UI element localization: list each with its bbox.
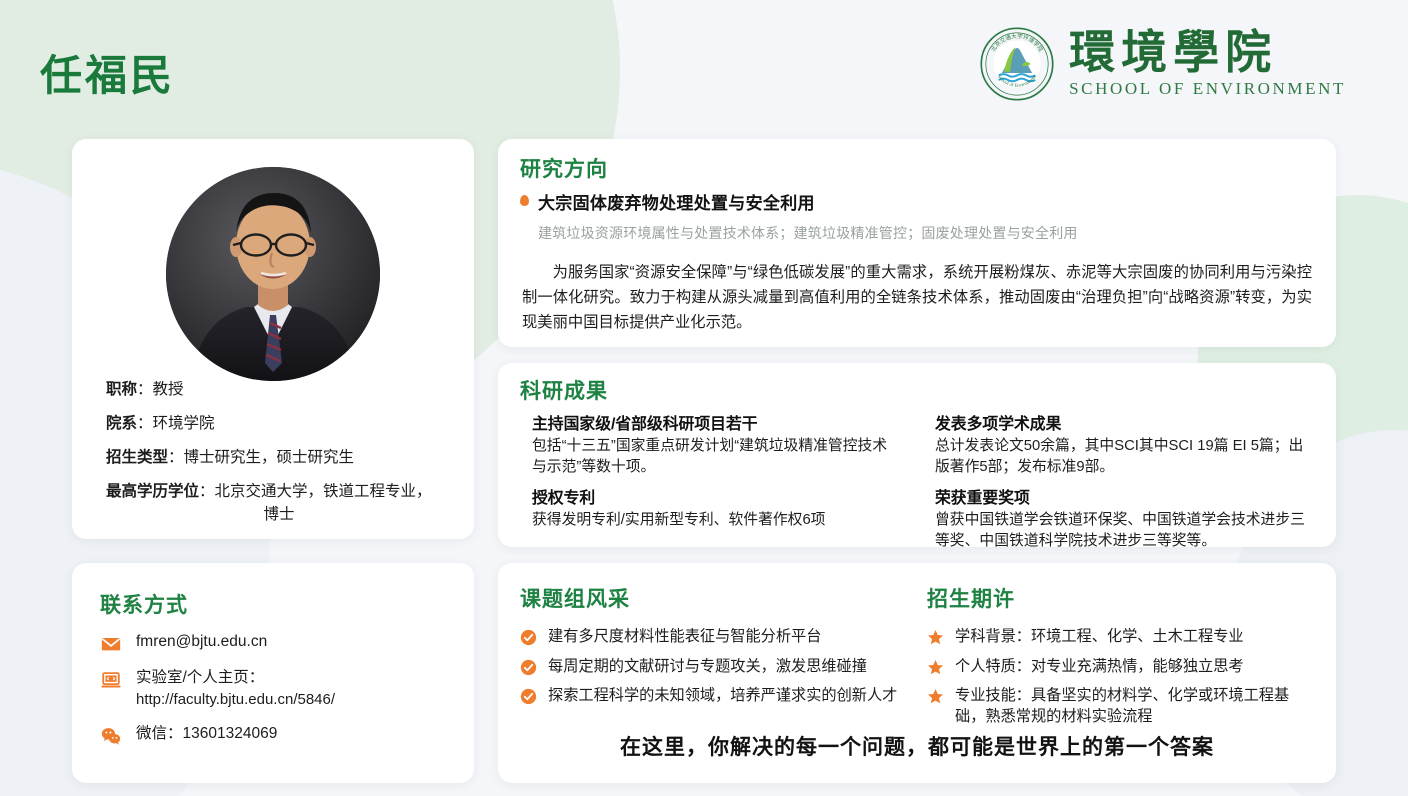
team-item-text: 每周定期的文献研讨与专题攻关，激发思维碰撞 bbox=[548, 657, 867, 678]
contact-item-email[interactable]: fmren@bjtu.edu.cn bbox=[100, 631, 454, 655]
orange-dot-icon bbox=[520, 195, 529, 206]
achievement-body-patents: 获得发明专利/实用新型专利、软件著作权6项 bbox=[532, 510, 901, 531]
profile-field-degree-value: 北京交通大学，铁道工程专业， bbox=[215, 483, 432, 500]
profile-field-title-sep: ： bbox=[137, 381, 153, 398]
research-section-title: 研究方向 bbox=[520, 153, 608, 183]
page-title: 任福民 bbox=[40, 42, 175, 103]
achievements-section-title: 科研成果 bbox=[520, 375, 608, 405]
achievement-body-publications: 总计发表论文50余篇，其中SCI其中SCI 19篇 EI 5篇；出版著作5部；发… bbox=[935, 436, 1314, 478]
achievement-heading-patents: 授权专利 bbox=[532, 485, 901, 508]
slogan-text: 在这里，你解决的每一个问题，都可能是世界上的第一个答案 bbox=[498, 731, 1336, 761]
school-seal-icon: 北京交通大学环境学院 School of Environment bbox=[979, 26, 1055, 102]
achievements-columns: 主持国家级/省部级科研项目若干 包括“十三五”国家重点研发计划“建筑垃圾精准管控… bbox=[520, 411, 1314, 559]
contact-section-title: 联系方式 bbox=[100, 589, 188, 619]
contact-homepage-url[interactable]: http://faculty.bjtu.edu.cn/5846/ bbox=[136, 689, 335, 711]
check-circle-icon bbox=[520, 659, 537, 676]
contact-email-text: fmren@bjtu.edu.cn bbox=[136, 631, 267, 653]
contact-homepage-block: 实验室/个人主页： http://faculty.bjtu.edu.cn/584… bbox=[136, 667, 335, 711]
research-main-topic: 大宗固体废弃物处理处置与安全利用 bbox=[538, 189, 815, 214]
portrait-photo-icon bbox=[166, 167, 380, 381]
profile-field-admission-type: 招生类型：博士研究生，硕士研究生 bbox=[94, 447, 452, 470]
team-item: 探索工程科学的未知领域，培养严谨求实的创新人才 bbox=[520, 686, 907, 707]
profile-info-list: 职称：教授 院系：环境学院 招生类型：博士研究生，硕士研究生 最高学历学位：北京… bbox=[94, 379, 452, 538]
contact-item-wechat[interactable]: 微信：13601324069 bbox=[100, 723, 454, 747]
star-icon bbox=[927, 688, 944, 705]
avatar bbox=[166, 167, 380, 381]
admission-item: 专业技能：具备坚实的材料学、化学或环境工程基础，熟悉常规的材料实验流程 bbox=[927, 686, 1304, 727]
admission-item: 学科背景：环境工程、化学、土木工程专业 bbox=[927, 627, 1304, 648]
bottom-columns: 课题组风采 建有多尺度材料性能表征与智能分析平台 每周定期的文献研讨与专题攻关，… bbox=[520, 583, 1314, 737]
team-item-text: 探索工程科学的未知领域，培养严谨求实的创新人才 bbox=[548, 686, 897, 707]
wechat-icon bbox=[100, 725, 122, 747]
contact-list: fmren@bjtu.edu.cn 实验室/个人主页： http://facul… bbox=[100, 631, 454, 759]
achievements-card: 科研成果 主持国家级/省部级科研项目若干 包括“十三五”国家重点研发计划“建筑垃… bbox=[498, 363, 1336, 547]
star-icon bbox=[927, 629, 944, 646]
admission-section-title: 招生期许 bbox=[927, 583, 1304, 613]
profile-field-department-sep: ： bbox=[137, 415, 153, 432]
logo-english-name: SCHOOL OF ENVIRONMENT bbox=[1069, 79, 1346, 99]
contact-wechat-text: 微信：13601324069 bbox=[136, 723, 277, 745]
team-section-title: 课题组风采 bbox=[520, 583, 907, 613]
research-description: 为服务国家“资源安全保障”与“绿色低碳发展”的重大需求，系统开展粉煤灰、赤泥等大… bbox=[522, 261, 1312, 335]
admission-item: 个人特质：对专业充满热情，能够独立思考 bbox=[927, 657, 1304, 678]
team-and-admission-card: 课题组风采 建有多尺度材料性能表征与智能分析平台 每周定期的文献研讨与专题攻关，… bbox=[498, 563, 1336, 783]
team-item: 每周定期的文献研讨与专题攻关，激发思维碰撞 bbox=[520, 657, 907, 678]
achievement-heading-awards: 荣获重要奖项 bbox=[935, 485, 1314, 508]
profile-field-admission-type-label: 招生类型 bbox=[106, 449, 168, 466]
profile-field-department-value: 环境学院 bbox=[153, 415, 215, 432]
admission-item-text: 专业技能：具备坚实的材料学、化学或环境工程基础，熟悉常规的材料实验流程 bbox=[955, 686, 1304, 727]
contact-item-homepage[interactable]: 实验室/个人主页： http://faculty.bjtu.edu.cn/584… bbox=[100, 667, 454, 711]
page-header: 任福民 北京交通大学环境学院 School of Environment bbox=[0, 0, 1408, 130]
profile-field-degree: 最高学历学位：北京交通大学，铁道工程专业， 博士 bbox=[94, 481, 452, 527]
profile-field-department: 院系：环境学院 bbox=[94, 413, 452, 436]
contact-homepage-label: 实验室/个人主页： bbox=[136, 669, 264, 686]
profile-field-title-value: 教授 bbox=[153, 381, 184, 398]
contact-card: 联系方式 fmren@bjtu.edu.cn 实验室/个人主页： bbox=[72, 563, 474, 783]
envelope-icon bbox=[100, 633, 122, 655]
achievements-left-column: 主持国家级/省部级科研项目若干 包括“十三五”国家重点研发计划“建筑垃圾精准管控… bbox=[520, 411, 917, 559]
star-icon bbox=[927, 659, 944, 676]
team-item-text: 建有多尺度材料性能表征与智能分析平台 bbox=[548, 627, 821, 648]
admission-item-text: 学科背景：环境工程、化学、土木工程专业 bbox=[955, 627, 1244, 648]
achievement-body-projects: 包括“十三五”国家重点研发计划“建筑垃圾精准管控技术与示范”等数十项。 bbox=[532, 436, 901, 478]
team-column: 课题组风采 建有多尺度材料性能表征与智能分析平台 每周定期的文献研讨与专题攻关，… bbox=[520, 583, 917, 737]
profile-field-title-label: 职称 bbox=[106, 381, 137, 398]
profile-field-admission-type-sep: ： bbox=[168, 449, 184, 466]
profile-field-admission-type-value: 博士研究生，硕士研究生 bbox=[184, 449, 355, 466]
achievements-right-column: 发表多项学术成果 总计发表论文50余篇，其中SCI其中SCI 19篇 EI 5篇… bbox=[917, 411, 1314, 559]
check-circle-icon bbox=[520, 688, 537, 705]
achievement-heading-projects: 主持国家级/省部级科研项目若干 bbox=[532, 411, 901, 434]
team-item: 建有多尺度材料性能表征与智能分析平台 bbox=[520, 627, 907, 648]
achievement-body-awards: 曾获中国铁道学会铁道环保奖、中国铁道学会技术进步三等奖、中国铁道科学院技术进步三… bbox=[935, 510, 1314, 552]
profile-field-degree-label: 最高学历学位 bbox=[106, 483, 199, 500]
logo-chinese-name: 環境學院 bbox=[1069, 29, 1346, 77]
admission-column: 招生期许 学科背景：环境工程、化学、土木工程专业 个人特质：对专业充满热情，能够… bbox=[917, 583, 1314, 737]
school-logo: 北京交通大学环境学院 School of Environment 環境學院 SC… bbox=[979, 26, 1346, 102]
profile-card: 职称：教授 院系：环境学院 招生类型：博士研究生，硕士研究生 最高学历学位：北京… bbox=[72, 139, 474, 539]
profile-field-degree-value2: 博士 bbox=[106, 504, 452, 527]
laptop-code-icon bbox=[100, 669, 122, 691]
profile-field-title: 职称：教授 bbox=[94, 379, 452, 402]
achievement-heading-publications: 发表多项学术成果 bbox=[935, 411, 1314, 434]
profile-field-degree-sep: ： bbox=[199, 483, 215, 500]
research-main-row: 大宗固体废弃物处理处置与安全利用 bbox=[520, 189, 1310, 214]
admission-item-text: 个人特质：对专业充满热情，能够独立思考 bbox=[955, 657, 1244, 678]
check-circle-icon bbox=[520, 629, 537, 646]
poster-page: 任福民 北京交通大学环境学院 School of Environment bbox=[0, 0, 1408, 796]
research-sub-topics: 建筑垃圾资源环境属性与处置技术体系；建筑垃圾精准管控；固废处理处置与安全利用 bbox=[538, 223, 1310, 243]
research-direction-card: 研究方向 大宗固体废弃物处理处置与安全利用 建筑垃圾资源环境属性与处置技术体系；… bbox=[498, 139, 1336, 347]
profile-field-department-label: 院系 bbox=[106, 415, 137, 432]
